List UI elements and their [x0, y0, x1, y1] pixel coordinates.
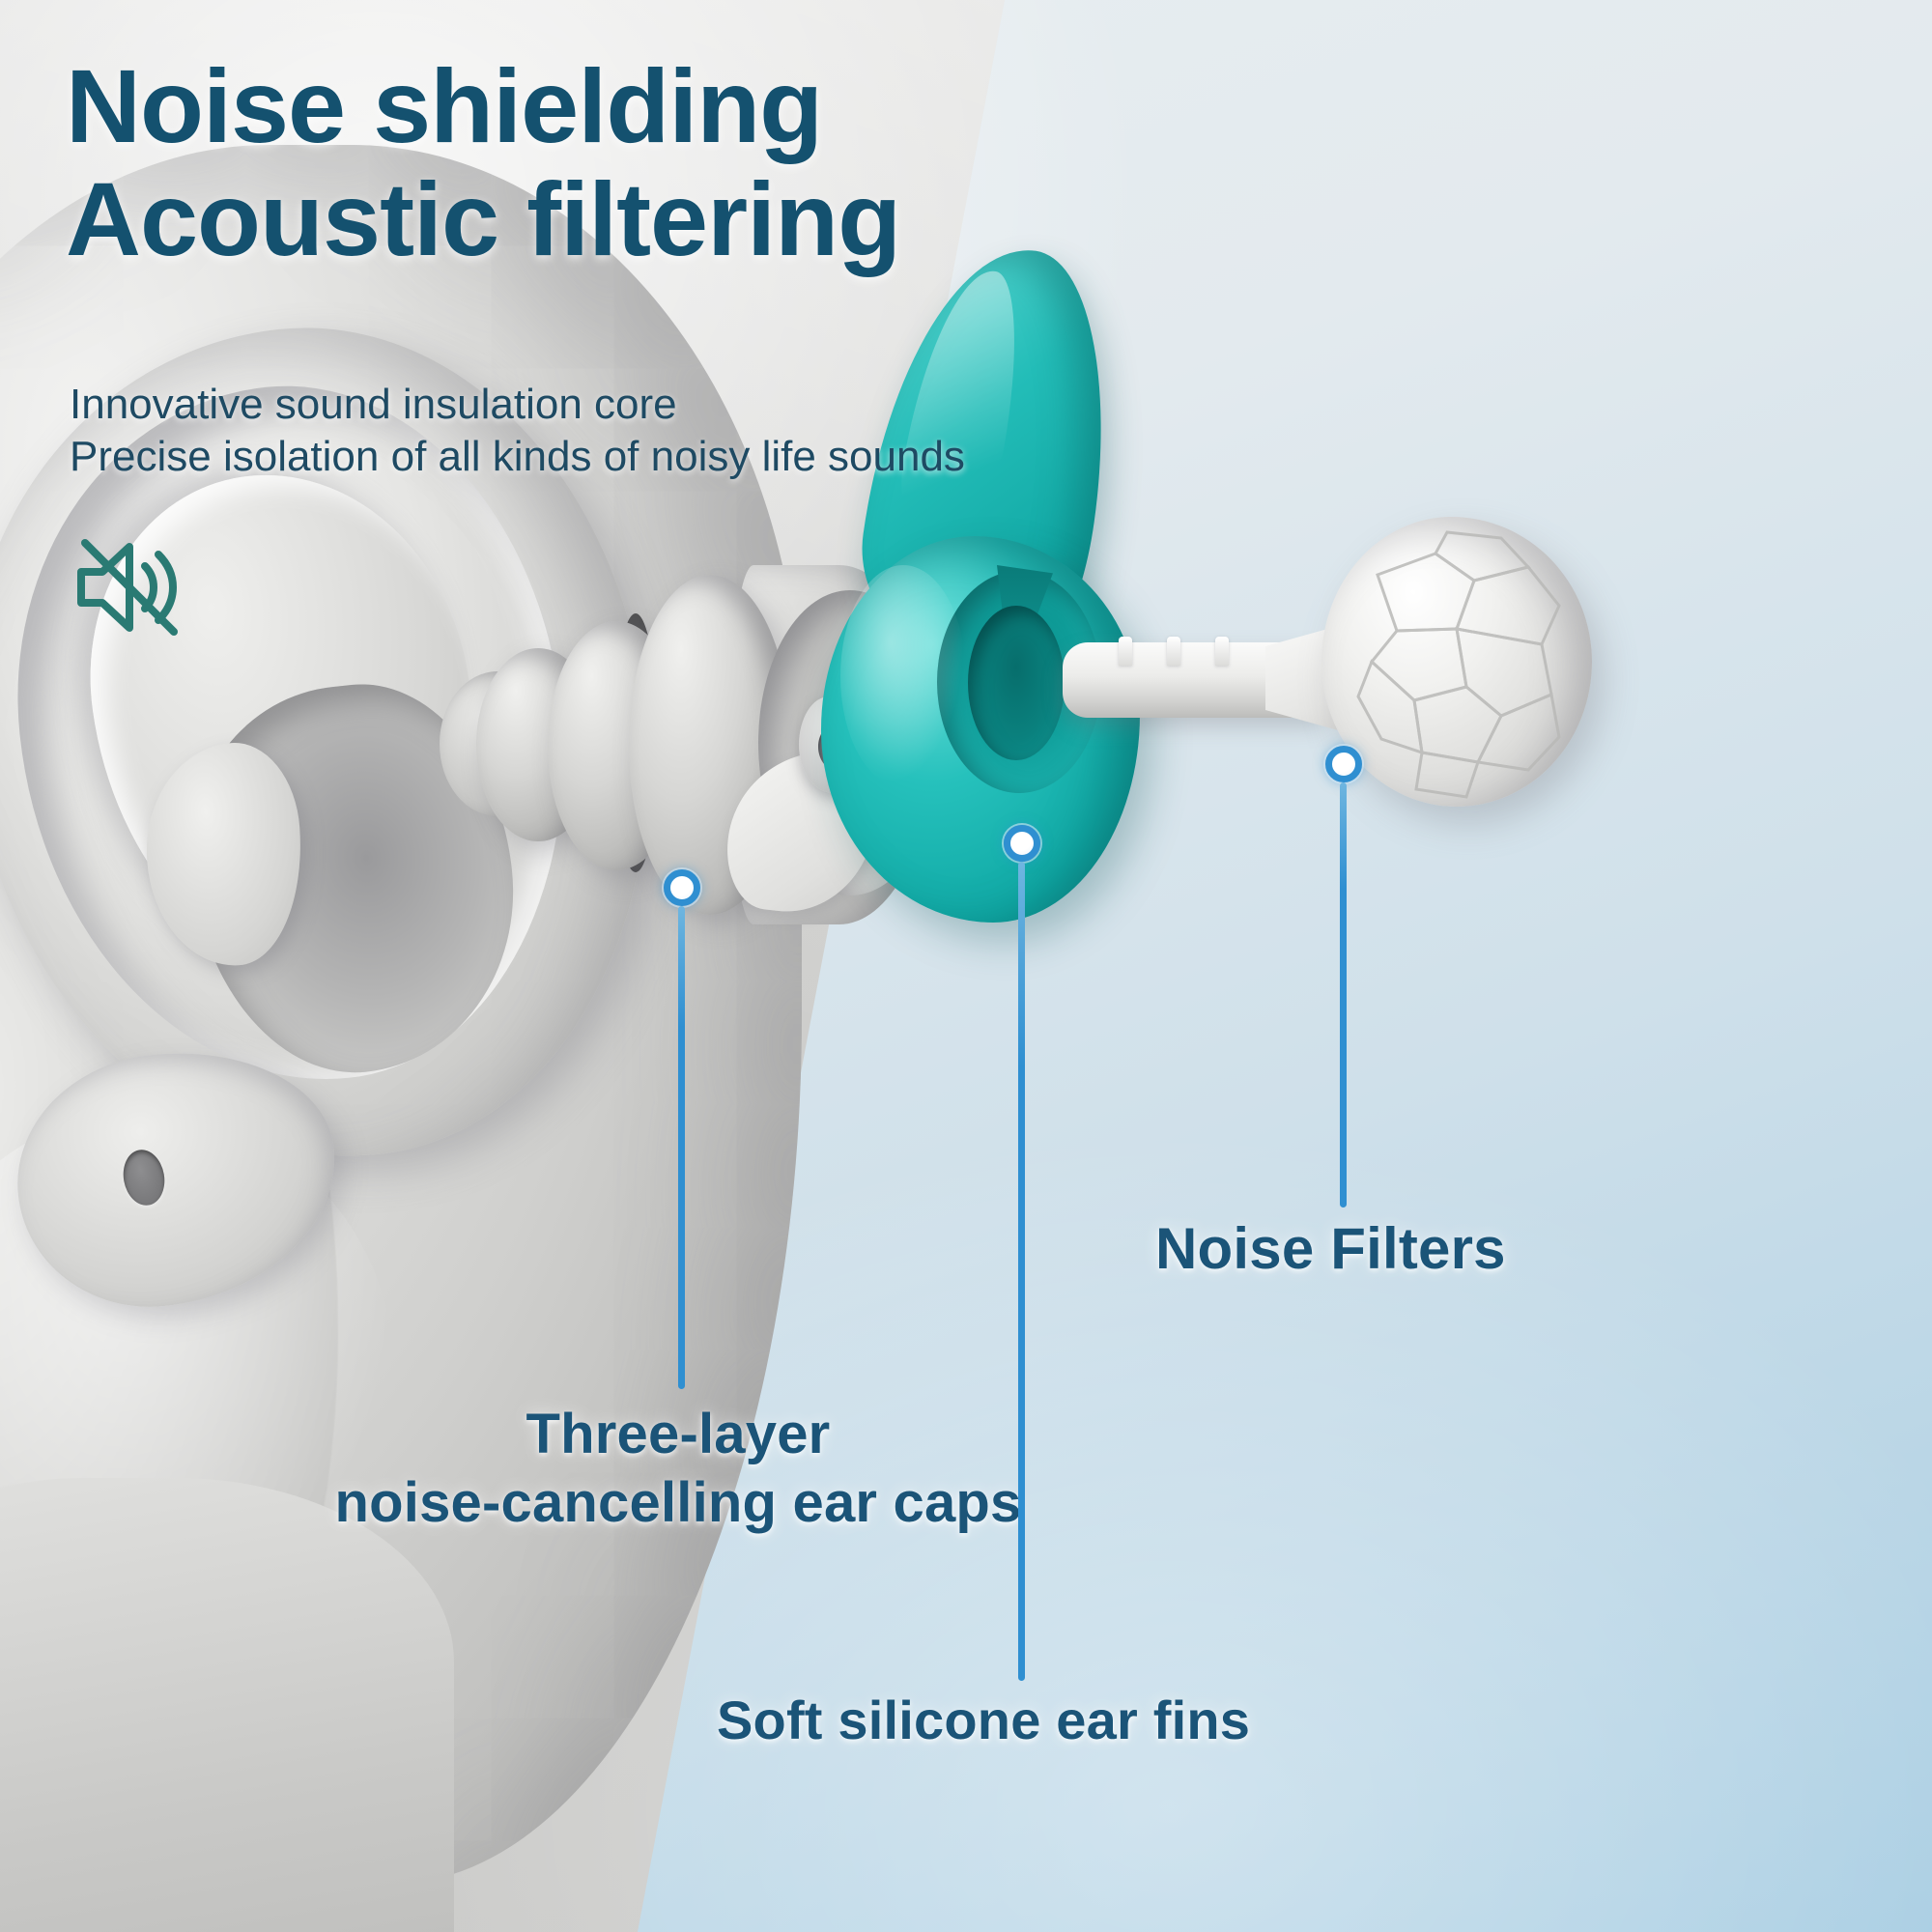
ear-fin-bore	[968, 606, 1065, 760]
callout-marker-three-layer-ear-caps[interactable]	[664, 869, 700, 906]
callout-leader-soft-silicone-ear-fins	[1018, 862, 1025, 1681]
headline-line-2: Acoustic filtering	[66, 163, 900, 276]
neck-shape	[0, 1478, 454, 1932]
subtitle-line-2: Precise isolation of all kinds of noisy …	[70, 433, 965, 480]
callout-leader-noise-filters	[1340, 782, 1347, 1207]
infographic-canvas: Three-layer noise-cancelling ear caps So…	[0, 0, 1932, 1932]
callout-label-soft-silicone-ear-fins: Soft silicone ear fins	[717, 1689, 1250, 1751]
callout-label-three-layer-ear-caps: Three-layer noise-cancelling ear caps	[321, 1401, 1036, 1538]
noise-filter-rib-1	[1119, 637, 1132, 666]
noise-filter-rib-3	[1215, 637, 1229, 666]
page-title: Noise shielding Acoustic filtering	[66, 50, 900, 275]
callout-marker-soft-silicone-ear-fins[interactable]	[1004, 825, 1040, 862]
noise-filter-facet-pattern	[1321, 517, 1592, 807]
ear-fin-highlight	[840, 565, 966, 787]
page-subtitle: Innovative sound insulation core Precise…	[70, 379, 965, 482]
callout-marker-noise-filters[interactable]	[1325, 746, 1362, 782]
subtitle-line-1: Innovative sound insulation core	[70, 381, 677, 428]
three-layer-ear-cap-part	[440, 555, 884, 932]
noise-filter-rib-2	[1167, 637, 1180, 666]
mute-speaker-icon	[70, 529, 185, 645]
headline-line-1: Noise shielding	[66, 47, 822, 164]
callout-label-noise-filters: Noise Filters	[1155, 1215, 1506, 1282]
callout-label-line-1: Three-layer	[526, 1403, 831, 1465]
callout-label-line-2: noise-cancelling ear caps	[335, 1471, 1022, 1534]
callout-leader-three-layer-ear-caps	[678, 906, 685, 1389]
